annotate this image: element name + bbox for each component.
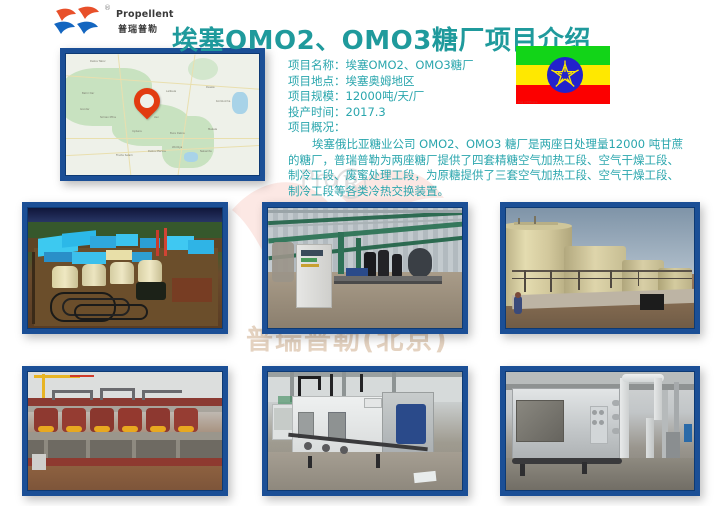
project-info-block: 项目名称：埃塞OMO2、OMO3糖厂 项目地点：埃塞奥姆地区 项目规模：1200… (288, 58, 688, 199)
poster-page: ® Propellent 普瑞普勒 埃塞OMO2、OMO3糖厂项目介绍 ® Pr… (0, 0, 720, 506)
logo-text-english: Propellent (116, 9, 174, 20)
info-row-project-location: 项目地点：埃塞奥姆地区 (288, 74, 688, 90)
photo-vessels-construction[interactable] (22, 366, 228, 496)
ethiopia-flag: Flag of Ethiopia (516, 46, 612, 107)
map-image: Debre Tabor Bahir Dar Gondar Lalibela De… (65, 53, 260, 176)
info-row-production-date: 投产时间：2017.3 (288, 105, 688, 121)
info-row-project-scale: 项目规模：12000吨/天/厂 (288, 89, 688, 105)
flag-star-icon (551, 60, 579, 88)
header: ® Propellent 普瑞普勒 埃塞OMO2、OMO3糖厂项目介绍 (0, 0, 720, 44)
photo-grid (0, 196, 720, 506)
flag-caption: Flag of Ethiopia (518, 101, 537, 104)
photo-storage-tanks[interactable] (500, 202, 700, 334)
logo-text-chinese: 普瑞普勒 (118, 22, 158, 35)
registered-mark-icon: ® (104, 4, 111, 12)
location-map-card[interactable]: Debre Tabor Bahir Dar Gondar Lalibela De… (60, 48, 265, 181)
photo-air-handling-unit[interactable] (262, 366, 468, 496)
photo-pump-station[interactable] (262, 202, 468, 334)
photo-stainless-ahu[interactable] (500, 366, 700, 496)
info-row-project-name: 项目名称：埃塞OMO2、OMO3糖厂 (288, 58, 688, 74)
propellent-logo-icon (52, 5, 110, 39)
photo-aerial-sugar-plant[interactable] (22, 202, 228, 334)
info-overview-paragraph: 埃塞俄比亚糖业公司 OMO2、OMO3 糖厂是两座日处理量12000 吨甘蔗的糖… (288, 137, 686, 199)
info-row-overview-label: 项目概况： (288, 120, 688, 136)
